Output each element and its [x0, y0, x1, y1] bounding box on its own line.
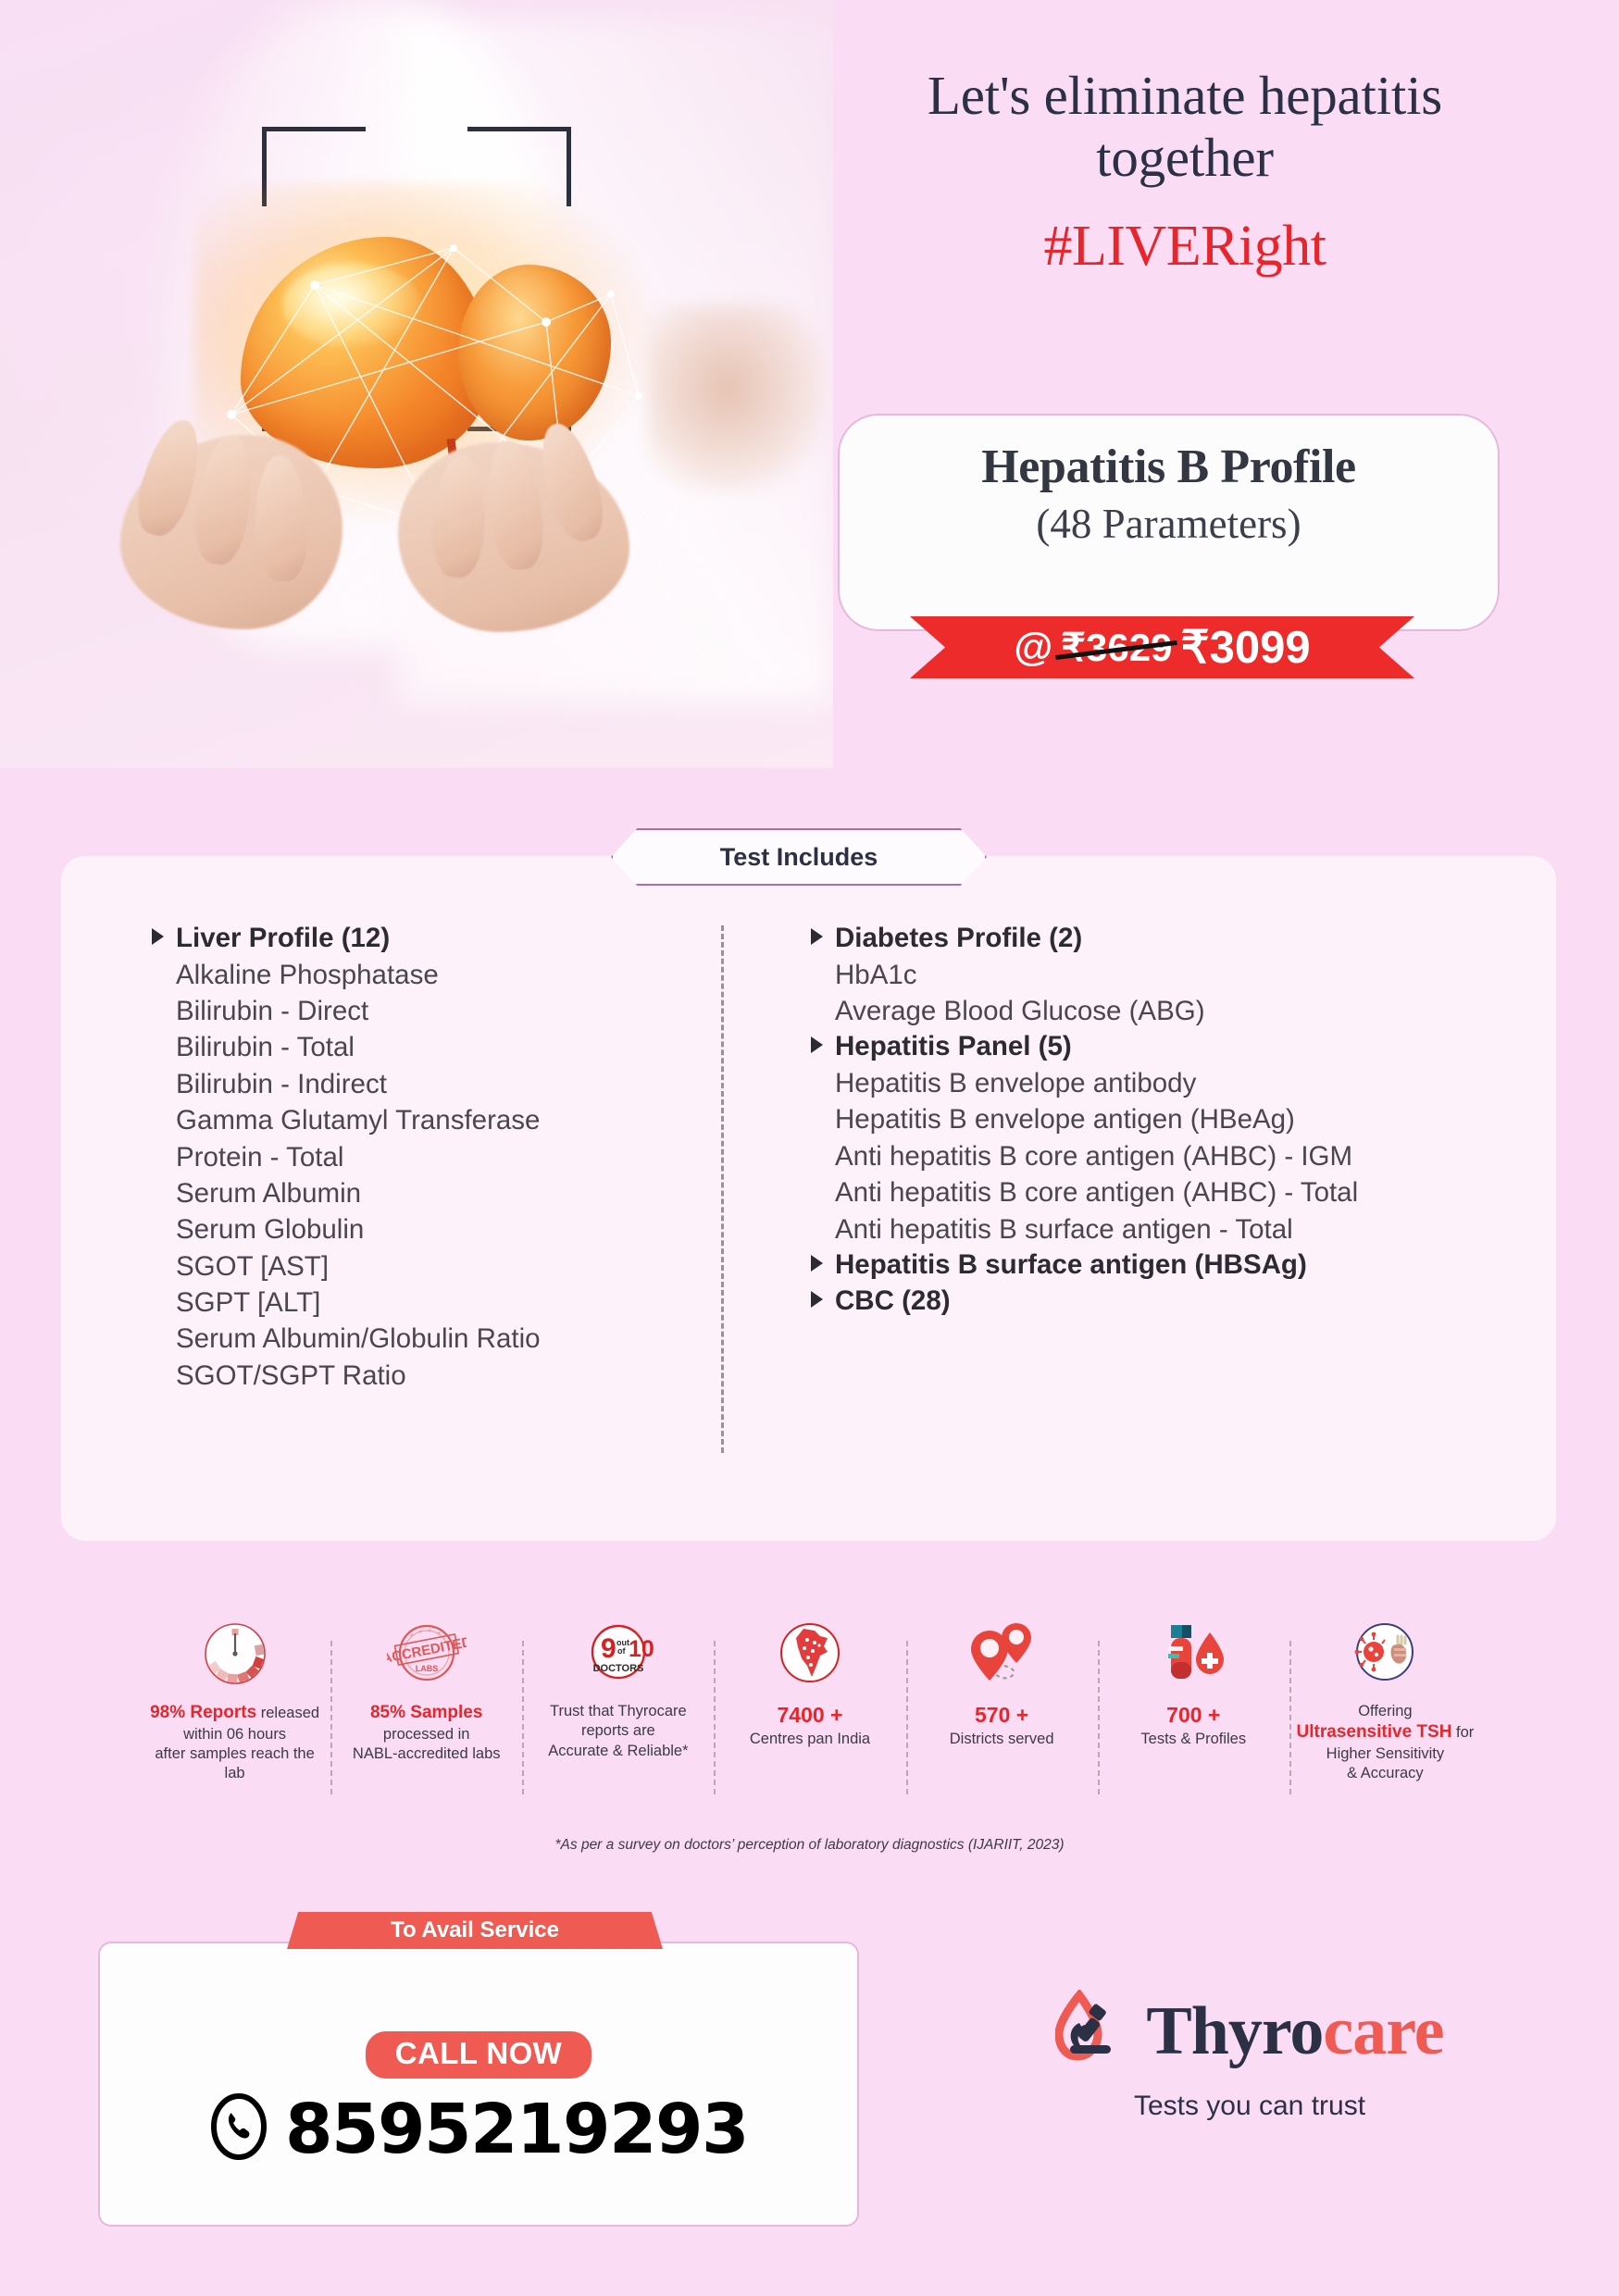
- test-item: Alkaline Phosphatase: [152, 957, 709, 993]
- group-heading: Hepatitis B surface antigen (HBSAg): [811, 1247, 1524, 1284]
- badge-big-number: 7400 +: [750, 1702, 870, 1730]
- badge-accredited-labs: ACCREDITED LABS 85% Samples processed in…: [330, 1615, 522, 1764]
- to-avail-service-tab: To Avail Service: [287, 1912, 663, 1949]
- phone-circle-icon: [209, 2092, 268, 2166]
- original-price: ₹3629: [1061, 625, 1172, 670]
- price-ribbon: @ ₹3629 ₹3099: [910, 616, 1414, 678]
- test-item: Gamma Glutamyl Transferase: [152, 1102, 709, 1138]
- brand-name-part2: care: [1323, 1993, 1443, 2069]
- phone-row[interactable]: 8595219293: [209, 2090, 748, 2169]
- badge-highlight: Ultrasensitive TSH: [1297, 1722, 1452, 1742]
- badge-big-number: 700 +: [1140, 1702, 1246, 1730]
- call-now-button[interactable]: CALL NOW: [366, 2031, 592, 2079]
- at-symbol: @: [1014, 625, 1052, 670]
- brand-name-part1: Thyro: [1146, 1993, 1323, 2069]
- survey-disclaimer: *As per a survey on doctors’ perception …: [0, 1837, 1619, 1854]
- badge-line1: Offering: [1358, 1703, 1412, 1719]
- product-title: Hepatitis B Profile: [840, 440, 1498, 494]
- test-item: Protein - Total: [152, 1139, 709, 1175]
- triangle-bullet-icon: [811, 1255, 823, 1272]
- badge-big-number: 570 +: [950, 1702, 1054, 1730]
- badge-ultrasensitive-tsh: Offering Ultrasensitive TSH for Higher S…: [1289, 1615, 1481, 1783]
- brand-tagline: Tests you can trust: [990, 2091, 1509, 2122]
- triangle-bullet-icon: [811, 1291, 823, 1308]
- phone-number[interactable]: 8595219293: [285, 2090, 748, 2169]
- test-item: Bilirubin - Direct: [152, 993, 709, 1029]
- product-parameter-count: (48 Parameters): [840, 500, 1498, 548]
- svg-text:DOCTORS: DOCTORS: [592, 1663, 643, 1674]
- badge-text: 85% Samples processed in NABL-accredited…: [353, 1702, 501, 1764]
- hero-image-liver-in-hands: [0, 0, 833, 768]
- location-pins-icon: [964, 1615, 1040, 1693]
- badge-line2: Districts served: [950, 1731, 1054, 1747]
- badge-doctors-trust: 9 out of 10 DOCTORS Trust that Thyrocare…: [522, 1615, 714, 1761]
- badge-line3: after samples reach the lab: [155, 1745, 314, 1781]
- test-includes-panel: Liver Profile (12) Alkaline Phosphatase …: [61, 856, 1556, 1541]
- india-map-icon: [774, 1615, 846, 1693]
- accredited-stamp-icon: ACCREDITED LABS: [387, 1615, 467, 1693]
- svg-text:LABS: LABS: [415, 1664, 438, 1673]
- call-now-card[interactable]: CALL NOW 8595219293: [98, 1942, 859, 2227]
- headline-line-1: Let's eliminate hepatitis: [815, 65, 1555, 127]
- nine-out-of-ten-doctors-icon: 9 out of 10 DOCTORS: [580, 1615, 656, 1693]
- triangle-bullet-icon: [152, 928, 164, 945]
- group-heading-label: CBC (28): [835, 1284, 951, 1320]
- group-heading-label: Liver Profile (12): [176, 921, 390, 957]
- hero-text-block: Let's eliminate hepatitis together #LIVE…: [815, 65, 1555, 279]
- microscope-droplet-icon: [1055, 1990, 1131, 2074]
- headline-line-2: together: [815, 127, 1555, 189]
- test-item: SGOT [AST]: [152, 1248, 709, 1285]
- test-item: Hepatitis B envelope antigen (HBeAg): [811, 1101, 1524, 1137]
- column-divider: [721, 925, 724, 1453]
- badge-text: 7400 + Centres pan India: [750, 1702, 870, 1749]
- svg-text:of: of: [617, 1646, 626, 1656]
- badge-text: 98% Reports released within 06 hours aft…: [145, 1702, 324, 1783]
- test-item: SGPT [ALT]: [152, 1285, 709, 1321]
- group-heading-label: Hepatitis B surface antigen (HBSAg): [835, 1247, 1307, 1284]
- price-card: Hepatitis B Profile (48 Parameters): [838, 414, 1500, 631]
- badge-rest: Trust that Thyrocare: [550, 1703, 687, 1719]
- badge-tests-profiles: 700 + Tests & Profiles: [1098, 1615, 1289, 1749]
- test-item: Average Blood Glucose (ABG): [811, 993, 1524, 1029]
- badge-highlight: 98% Reports: [150, 1703, 256, 1722]
- campaign-hashtag: #LIVERight: [815, 214, 1555, 279]
- test-column-right: Diabetes Profile (2) HbA1c Average Blood…: [709, 921, 1524, 1541]
- badge-line3: NABL-accredited labs: [353, 1745, 501, 1762]
- svg-text:9: 9: [601, 1633, 616, 1664]
- badge-line2: reports are: [581, 1722, 655, 1739]
- test-item: Hepatitis B envelope antibody: [811, 1065, 1524, 1101]
- badge-line2: Centres pan India: [750, 1731, 870, 1747]
- test-includes-tab: Test Includes: [611, 828, 987, 886]
- test-item: Bilirubin - Total: [152, 1029, 709, 1065]
- badge-reports-turnaround: 98% Reports released within 06 hours aft…: [139, 1615, 330, 1783]
- thyroid-virus-icon: [1348, 1615, 1422, 1693]
- badge-text: 700 + Tests & Profiles: [1140, 1702, 1246, 1749]
- badge-line2: processed in: [383, 1726, 470, 1743]
- badge-line2: Tests & Profiles: [1140, 1731, 1246, 1747]
- badge-highlight: 85% Samples: [370, 1703, 482, 1722]
- hero-section: Let's eliminate hepatitis together #LIVE…: [0, 0, 1619, 814]
- test-item: Anti hepatitis B core antigen (AHBC) - I…: [811, 1138, 1524, 1174]
- group-heading: CBC (28): [811, 1284, 1524, 1320]
- badge-line2: within 06 hours: [183, 1726, 286, 1743]
- badge-text: 570 + Districts served: [950, 1702, 1054, 1749]
- badge-line3: & Accuracy: [1347, 1765, 1424, 1781]
- offer-price: ₹3099: [1180, 621, 1310, 674]
- test-item: Serum Albumin/Globulin Ratio: [152, 1321, 709, 1357]
- badge-text: Offering Ultrasensitive TSH for Higher S…: [1297, 1702, 1475, 1783]
- brand-wordmark: Thyrocare: [1146, 1992, 1443, 2071]
- test-item: Serum Globulin: [152, 1211, 709, 1247]
- test-item: Bilirubin - Indirect: [152, 1066, 709, 1102]
- badge-rest: for: [1451, 1724, 1474, 1741]
- logo-row: Thyrocare: [990, 1990, 1509, 2074]
- badge-text: Trust that Thyrocare reports are Accurat…: [548, 1702, 688, 1761]
- triangle-bullet-icon: [811, 1036, 823, 1053]
- group-heading: Diabetes Profile (2): [811, 921, 1524, 957]
- test-item: Serum Albumin: [152, 1175, 709, 1211]
- group-heading-label: Diabetes Profile (2): [835, 921, 1082, 957]
- test-item: Anti hepatitis B core antigen (AHBC) - T…: [811, 1174, 1524, 1210]
- group-heading: Hepatitis Panel (5): [811, 1029, 1524, 1065]
- svg-text:10: 10: [629, 1636, 654, 1662]
- badge-rest: released: [256, 1705, 319, 1721]
- test-item: HbA1c: [811, 957, 1524, 993]
- stopwatch-icon: [200, 1615, 270, 1693]
- badge-line3: Accurate & Reliable*: [548, 1743, 688, 1759]
- triangle-bullet-icon: [811, 928, 823, 945]
- test-item: Anti hepatitis B surface antigen - Total: [811, 1211, 1524, 1247]
- brand-logo-block: Thyrocare Tests you can trust: [990, 1990, 1509, 2122]
- blood-test-tube-icon: [1155, 1615, 1231, 1693]
- test-item: SGOT/SGPT Ratio: [152, 1358, 709, 1394]
- trust-badges-strip: 98% Reports released within 06 hours aft…: [139, 1615, 1481, 1828]
- badge-districts: 570 + Districts served: [906, 1615, 1098, 1749]
- group-heading: Liver Profile (12): [152, 921, 709, 957]
- badge-line2: Higher Sensitivity: [1326, 1745, 1444, 1762]
- group-heading-label: Hepatitis Panel (5): [835, 1029, 1072, 1065]
- badge-centres: 7400 + Centres pan India: [714, 1615, 905, 1749]
- test-column-left: Liver Profile (12) Alkaline Phosphatase …: [61, 921, 709, 1541]
